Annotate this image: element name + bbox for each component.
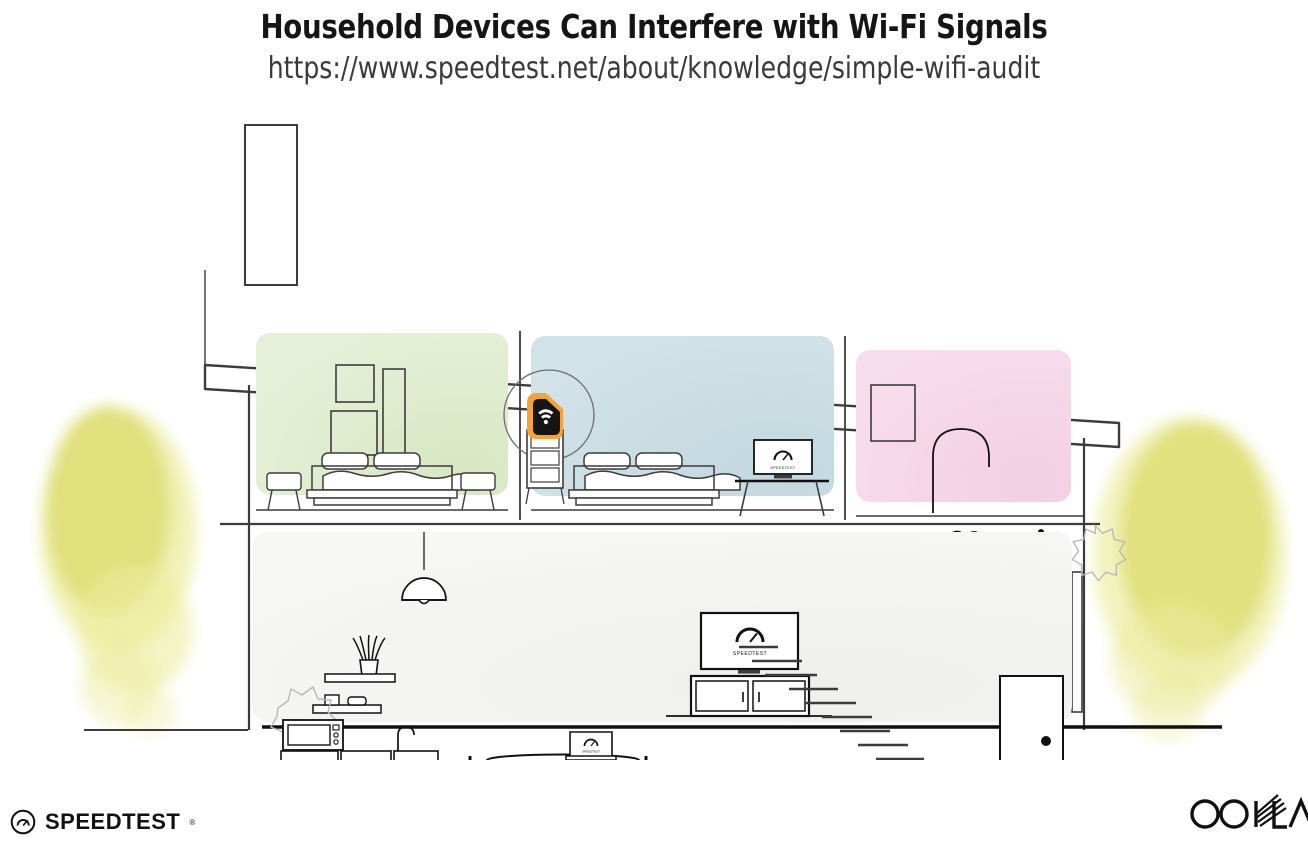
shelf-upper (325, 674, 395, 682)
infographic-page: Household Devices Can Interfere with Wi-… (0, 0, 1308, 861)
media-console (666, 676, 832, 716)
chimney (245, 125, 297, 285)
ookla-logo: ® (1186, 793, 1308, 833)
ookla-k-rays-icon (1256, 795, 1286, 826)
speedtest-gauge-icon (10, 809, 36, 835)
speedtest-wordmark: SPEEDTEST (45, 809, 180, 835)
microwave[interactable] (283, 720, 343, 750)
sink-faucet (398, 727, 414, 751)
speedtest-trademark-icon: ® (189, 818, 195, 827)
door[interactable] (1000, 676, 1063, 760)
monitor-screen-label: SPEEDTEST (771, 466, 796, 470)
laptop-screen-label: SPEEDTEST (582, 750, 600, 754)
tree-right (1094, 417, 1286, 740)
room-bedroom-green (256, 331, 520, 520)
monitor[interactable]: SPEEDTEST (754, 440, 812, 478)
room-bedroom-blue: SPEEDTEST (504, 336, 845, 520)
laptop[interactable]: SPEEDTEST (566, 732, 616, 760)
tree-left (40, 406, 196, 734)
kitchen-counter (281, 751, 438, 760)
door-knob-icon[interactable] (1041, 736, 1051, 746)
footer: SPEEDTEST ® ® (0, 799, 1308, 843)
header: Household Devices Can Interfere with Wi-… (0, 0, 1308, 87)
house-illustration: SPEEDTEST (0, 100, 1308, 760)
source-url: https://www.speedtest.net/about/knowledg… (46, 51, 1262, 87)
tv-screen-label: SPEEDTEST (733, 651, 767, 657)
page-title: Household Devices Can Interfere with Wi-… (46, 8, 1262, 47)
speedtest-logo: SPEEDTEST ® (10, 809, 195, 835)
television[interactable]: SPEEDTEST (701, 613, 798, 674)
